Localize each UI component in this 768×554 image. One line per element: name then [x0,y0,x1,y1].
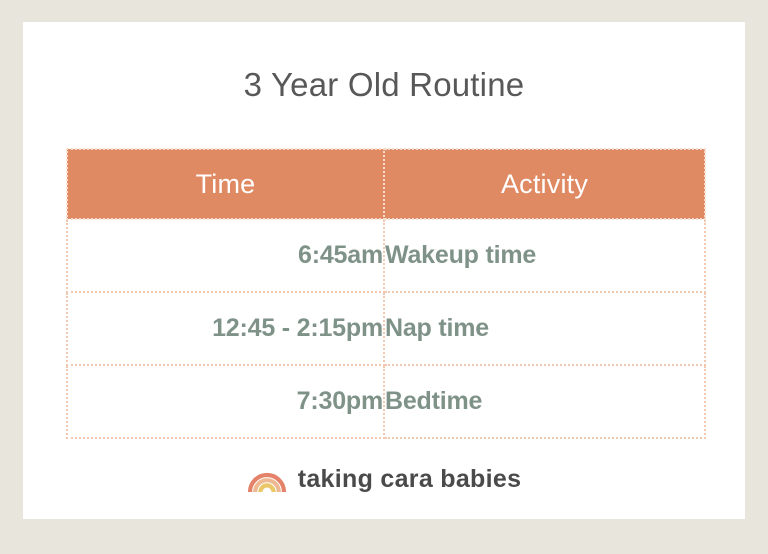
page-frame: 3 Year Old Routine Time Activity 6:45am … [0,0,768,554]
routine-table: Time Activity 6:45am Wakeup time 12:45 -… [66,148,706,439]
cell-activity: Wakeup time [384,219,705,292]
cell-time: 6:45am [67,219,384,292]
cell-activity: Nap time [384,292,705,365]
brand-name: taking cara babies [298,467,522,492]
column-header-time: Time [67,149,384,219]
column-header-activity: Activity [384,149,705,219]
table-header: Time Activity [67,149,705,219]
cell-time: 7:30pm [67,365,384,438]
rainbow-icon [247,466,287,493]
table-body: 6:45am Wakeup time 12:45 - 2:15pm Nap ti… [67,219,705,438]
table-row: 12:45 - 2:15pm Nap time [67,292,705,365]
table-row: 6:45am Wakeup time [67,219,705,292]
page-title: 3 Year Old Routine [0,66,768,104]
cell-time: 12:45 - 2:15pm [67,292,384,365]
brand-logo: taking cara babies [0,466,768,493]
table-header-row: Time Activity [67,149,705,219]
table-row: 7:30pm Bedtime [67,365,705,438]
cell-activity: Bedtime [384,365,705,438]
